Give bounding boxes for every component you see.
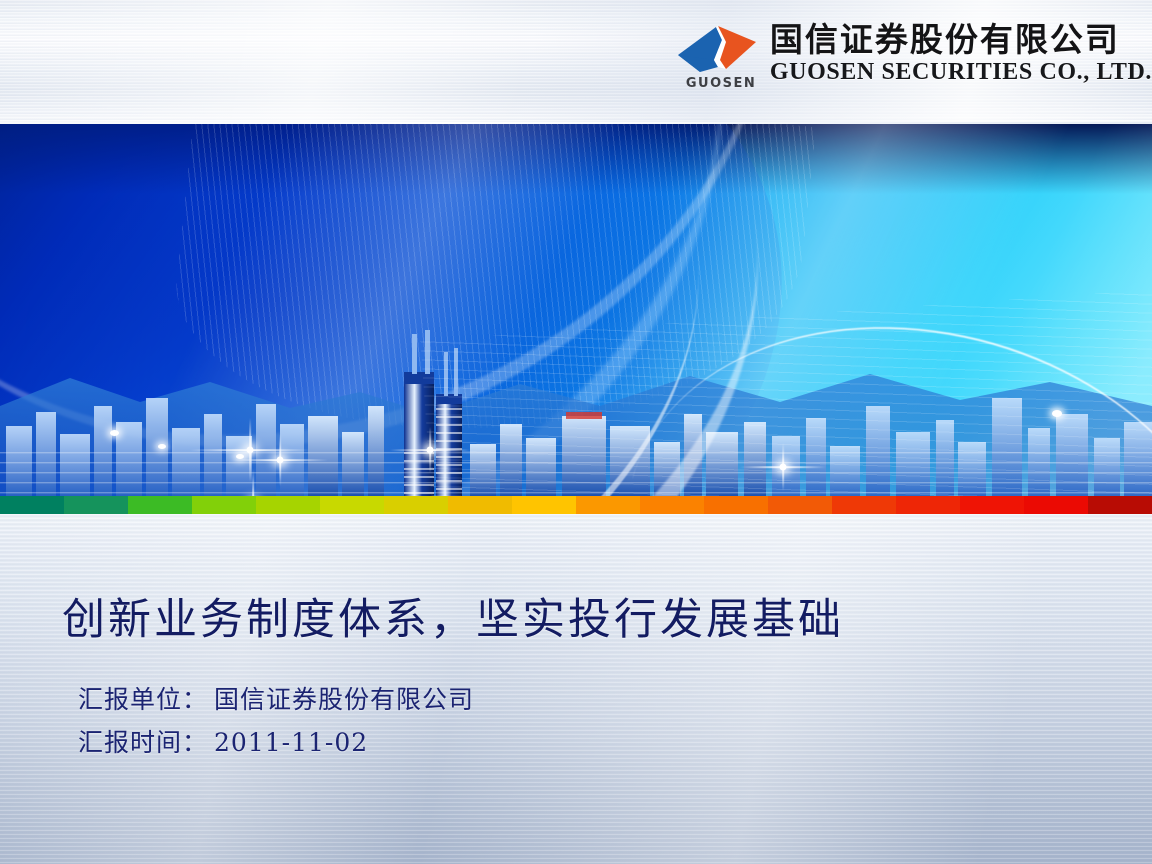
banner-light-ribbon-1 (0, 124, 813, 496)
presentation-title-slide: GUOSEN 国信证券股份有限公司 GUOSEN SECURITIES CO.,… (0, 0, 1152, 864)
light-flare-icon (740, 424, 826, 496)
banner-horizontal-line-texture (420, 288, 1152, 496)
meta-row-date: 汇报时间：2011-11-02 (78, 721, 474, 764)
banner-light-ribbon-3 (0, 124, 833, 496)
light-dot-icon (1052, 410, 1062, 417)
color-bar-segment-10 (576, 496, 640, 514)
banner-swoosh-shape (0, 124, 861, 496)
meta-value-date: 2011-11-02 (214, 728, 368, 757)
color-bar-segment-11 (640, 496, 704, 514)
banner-cityscape-image (0, 124, 1152, 496)
banner-light-ribbon-4 (0, 124, 893, 496)
banner-line-fan-texture (164, 124, 816, 465)
banner-light-beams (0, 124, 1152, 496)
color-bar-segment-2 (64, 496, 128, 514)
color-bar-segment-6 (320, 496, 384, 514)
company-brand-lockup: GUOSEN 国信证券股份有限公司 GUOSEN SECURITIES CO.,… (670, 20, 1152, 92)
color-bar-segment-1 (0, 496, 64, 514)
company-name-block: 国信证券股份有限公司 GUOSEN SECURITIES CO., LTD. (770, 20, 1152, 86)
meta-row-unit: 汇报单位：国信证券股份有限公司 (78, 678, 474, 721)
banner-light-ribbon-2 (0, 124, 735, 496)
color-bar-segment-12 (704, 496, 768, 514)
light-dot-icon (110, 430, 119, 436)
color-bar-segment-13 (768, 496, 832, 514)
meta-label-date: 汇报时间： (78, 728, 208, 757)
light-flare-icon (178, 444, 328, 496)
banner-light-arc-trail (568, 258, 1152, 496)
meta-value-unit: 国信证券股份有限公司 (214, 685, 474, 714)
slide-meta-block: 汇报单位：国信证券股份有限公司 汇报时间：2011-11-02 (78, 678, 474, 764)
color-bar-segment-14 (832, 496, 896, 514)
color-bar-segment-8 (448, 496, 512, 514)
guosen-diamond-logo-icon: GUOSEN (670, 20, 762, 92)
logo-wordmark-text: GUOSEN (686, 77, 756, 90)
banner-top-shade (0, 124, 1152, 194)
company-name-english: GUOSEN SECURITIES CO., LTD. (770, 60, 1152, 86)
light-flare-icon (232, 412, 328, 496)
color-bar-segment-5 (256, 496, 320, 514)
meta-label-unit: 汇报单位： (78, 685, 208, 714)
light-dot-icon (158, 444, 166, 449)
light-flare-icon (190, 390, 310, 496)
light-flare-icon (390, 410, 470, 490)
rainbow-color-bar (0, 496, 1152, 514)
color-bar-segment-15 (896, 496, 960, 514)
color-bar-segment-17 (1024, 496, 1088, 514)
page-title: 创新业务制度体系，坚实投行发展基础 (62, 595, 1092, 647)
color-bar-segment-7 (384, 496, 448, 514)
company-name-chinese: 国信证券股份有限公司 (770, 22, 1152, 58)
light-dot-icon (236, 454, 244, 459)
slide-header: GUOSEN 国信证券股份有限公司 GUOSEN SECURITIES CO.,… (0, 0, 1152, 124)
color-bar-segment-16 (960, 496, 1024, 514)
city-skyline-graphic (0, 256, 1152, 496)
color-bar-segment-9 (512, 496, 576, 514)
color-bar-segment-18 (1088, 496, 1152, 514)
color-bar-segment-4 (192, 496, 256, 514)
color-bar-segment-3 (128, 496, 192, 514)
